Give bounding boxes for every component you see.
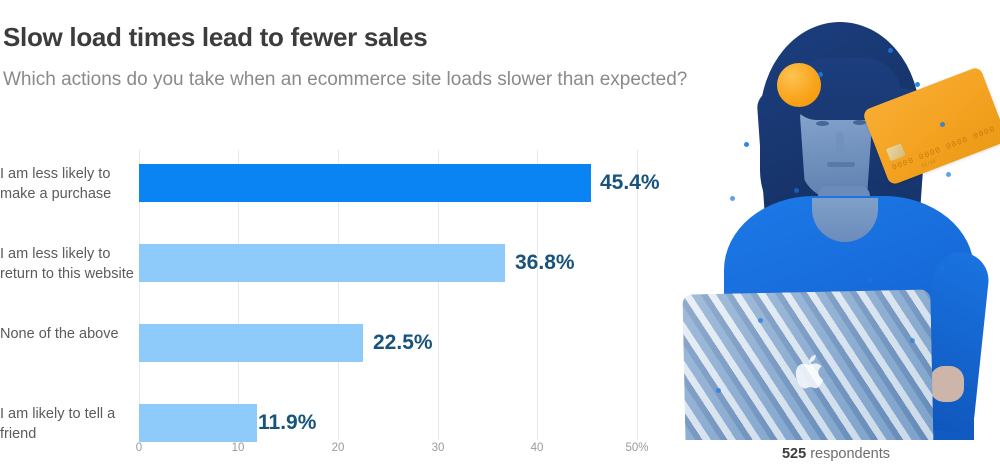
x-tick-10: 10: [232, 442, 245, 454]
accent-dot: [940, 266, 945, 271]
eye-right: [853, 120, 866, 125]
bar-0[interactable]: [139, 164, 591, 202]
bar-value-3: 11.9%: [258, 404, 316, 442]
x-tick-30: 30: [432, 442, 445, 454]
respondents-caption: 525 respondents: [672, 446, 1000, 462]
x-tick-20: 20: [332, 442, 345, 454]
photo-composition: 0000 0000 0000 0000 11/19: [672, 0, 1000, 440]
table-row: I am less likely to make a purchase 45.4…: [0, 164, 680, 224]
respondents-count: 525: [782, 446, 806, 462]
page-subtitle: Which actions do you take when an ecomme…: [3, 64, 693, 95]
category-label: I am less likely to make a purchase: [0, 164, 134, 204]
x-tick-50: 50%: [625, 442, 648, 454]
hero-photo: 0000 0000 0000 0000 11/19: [672, 0, 1000, 470]
bar-rows: I am less likely to make a purchase 45.4…: [0, 150, 680, 440]
table-row: I am less likely to return to this websi…: [0, 244, 680, 304]
accent-dot: [730, 196, 735, 201]
eye-left: [816, 121, 829, 126]
bar-3[interactable]: [139, 404, 257, 442]
accent-dot: [915, 82, 920, 87]
respondents-label: respondents: [806, 446, 890, 462]
category-label: I am likely to tell a friend: [0, 404, 134, 444]
nose: [836, 132, 844, 152]
bar-chart: I am less likely to make a purchase 45.4…: [0, 150, 680, 460]
infographic-page: Slow load times lead to fewer sales Whic…: [0, 0, 1000, 470]
x-tick-0: 0: [136, 442, 142, 454]
orange-circle-icon: [777, 63, 821, 107]
category-label: I am less likely to return to this websi…: [0, 244, 134, 284]
bar-1[interactable]: [139, 244, 505, 282]
accent-dot: [940, 122, 945, 127]
accent-dot: [910, 338, 915, 343]
table-row: None of the above 22.5%: [0, 324, 680, 384]
accent-dot: [744, 142, 749, 147]
bar-2[interactable]: [139, 324, 363, 362]
accent-dot: [716, 388, 721, 393]
hand: [930, 366, 964, 402]
category-label: None of the above: [0, 324, 134, 344]
bar-value-1: 36.8%: [515, 244, 575, 282]
accent-dot: [794, 188, 799, 193]
bar-value-0: 45.4%: [600, 164, 660, 202]
x-axis: 0 10 20 30 40 50%: [0, 442, 680, 464]
accent-dot: [888, 48, 893, 53]
bar-value-2: 22.5%: [373, 324, 433, 362]
page-title: Slow load times lead to fewer sales: [3, 22, 427, 53]
accent-dot: [868, 278, 873, 283]
accent-dot: [946, 172, 951, 177]
accent-dot: [758, 318, 763, 323]
laptop-lid: [682, 289, 933, 452]
x-tick-40: 40: [531, 442, 544, 454]
accent-dot: [818, 72, 823, 77]
apple-logo-icon: [794, 352, 829, 393]
mouth: [827, 162, 855, 167]
